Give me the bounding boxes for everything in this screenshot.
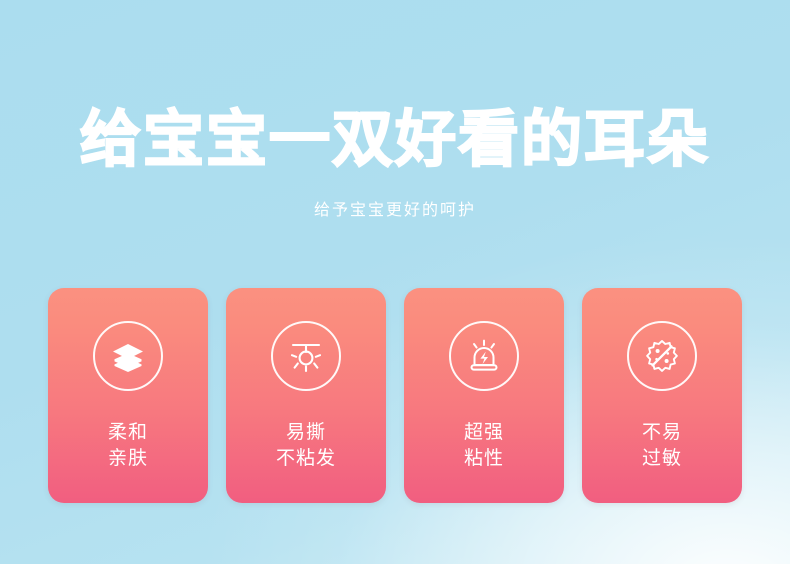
page-title: 给宝宝一双好看的耳朵 [0,104,790,176]
feature-label-line1: 柔和 [108,421,148,443]
feature-label-line1: 超强 [464,421,504,443]
feature-card-row: 柔和 亲肤 [48,288,742,503]
feature-label-line1: 易撕 [286,421,326,443]
icon-frame [449,321,519,391]
feature-label-line2: 粘性 [464,445,504,471]
icon-frame [627,321,697,391]
promo-poster: 给宝宝一双好看的耳朵 给予宝宝更好的呵护 柔和 亲肤 [0,0,790,564]
feature-card[interactable]: 易撕 不粘发 [226,288,386,503]
feature-label-line2: 亲肤 [108,445,148,471]
feature-card-label: 不易 过敏 [642,419,682,471]
no-allergen-icon [642,336,682,376]
feature-card-label: 柔和 亲肤 [108,419,148,471]
feature-label-line2: 过敏 [642,445,682,471]
feature-card[interactable]: 超强 粘性 [404,288,564,503]
feature-card-label: 超强 粘性 [464,419,504,471]
poster-header: 给宝宝一双好看的耳朵 给予宝宝更好的呵护 [0,0,790,222]
feature-label-line2: 不粘发 [276,445,336,471]
ceiling-lamp-icon [286,336,326,376]
feature-card[interactable]: 柔和 亲肤 [48,288,208,503]
page-subtitle: 给予宝宝更好的呵护 [0,176,790,222]
siren-bolt-icon [464,336,504,376]
layers-stack-icon [109,337,147,375]
icon-frame [271,321,341,391]
icon-frame [93,321,163,391]
feature-label-line1: 不易 [642,421,682,443]
feature-card[interactable]: 不易 过敏 [582,288,742,503]
feature-card-label: 易撕 不粘发 [276,419,336,471]
